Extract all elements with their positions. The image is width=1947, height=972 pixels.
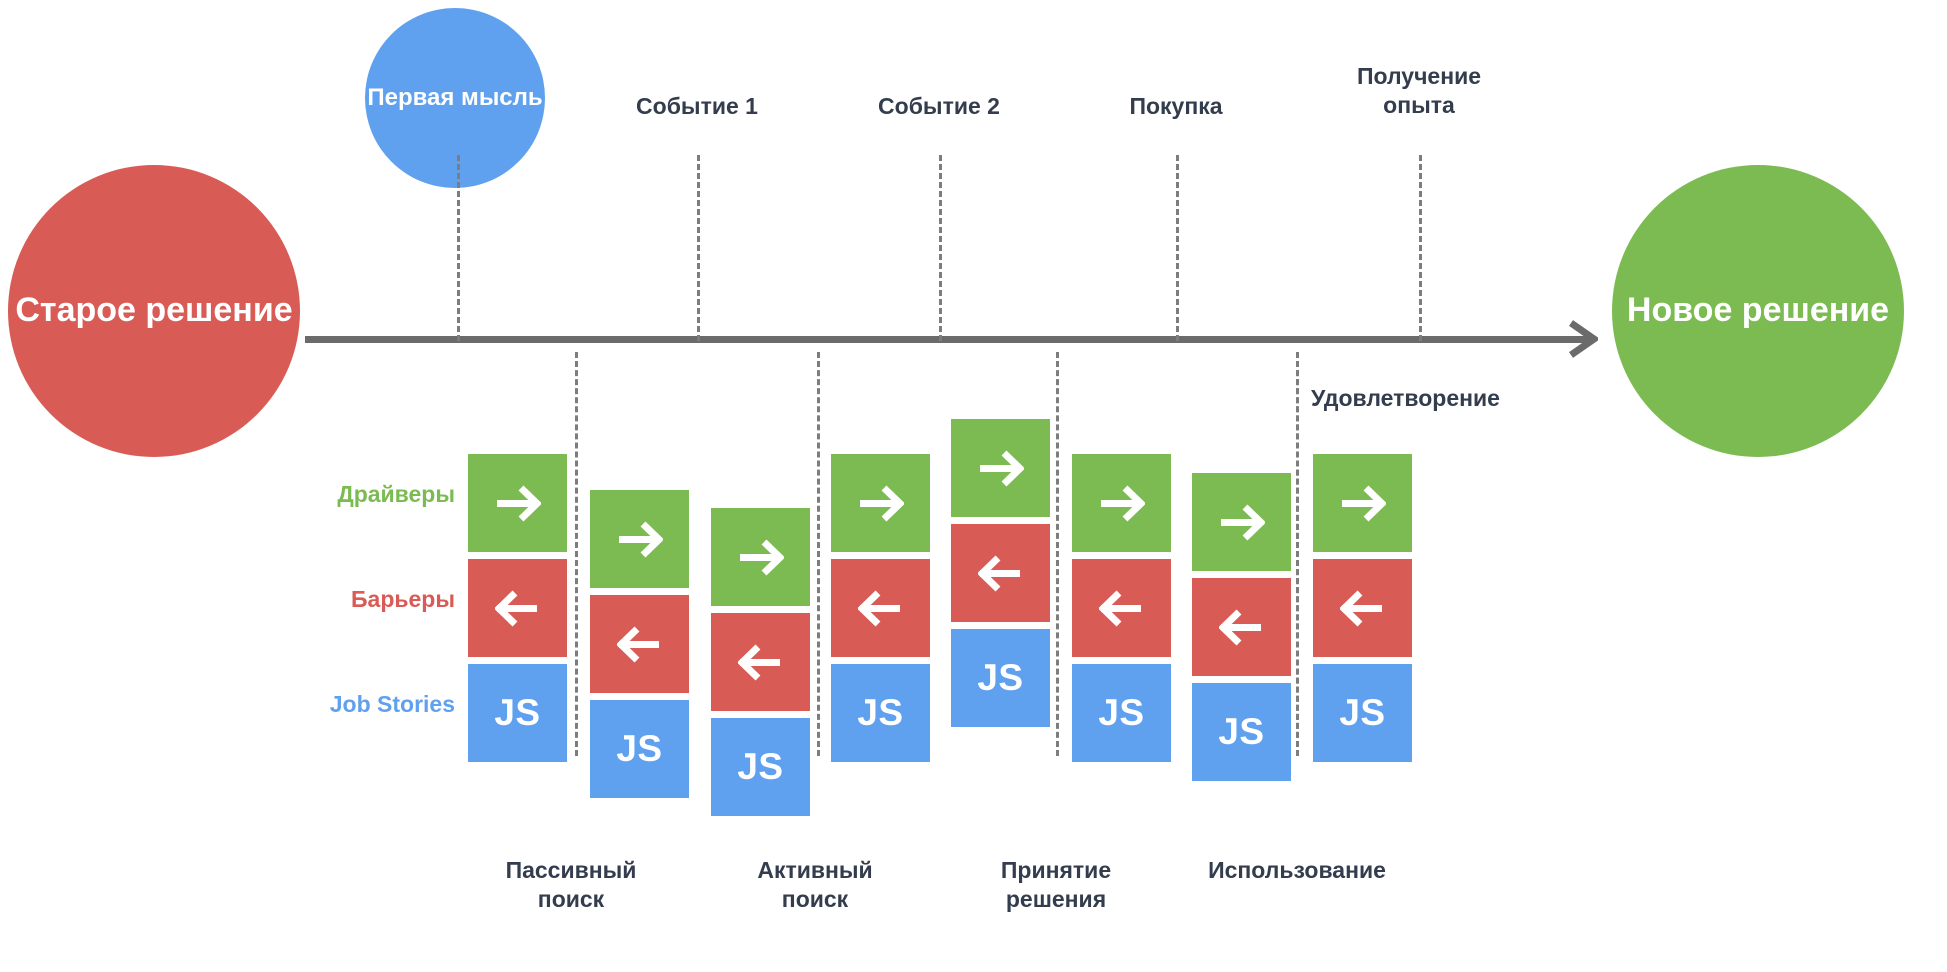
barrier-block-arrow-left-icon[interactable] [468,559,567,657]
bottom-stage-label-2: Принятие решения [1001,856,1111,915]
job-story-block[interactable]: JS [1192,683,1291,781]
legend-label-drivers: Драйверы [337,481,455,508]
tick-upper-1 [697,155,700,341]
tick-upper-3 [1176,155,1179,341]
top-stage-label-3: Покупка [1129,92,1222,121]
driver-block-arrow-right-icon[interactable] [468,454,567,552]
journey-column-0: JS [468,454,567,762]
journey-column-4: JS [951,419,1050,727]
legend-label-barriers: Барьеры [351,586,455,613]
job-story-label: JS [1339,692,1385,734]
satisfaction-label: Удовлетворение [1311,385,1500,412]
job-story-block[interactable]: JS [951,629,1050,727]
diagram-canvas: Старое решение Новое решение Первая мысл… [0,0,1947,972]
legend-label-job-stories: Job Stories [330,691,455,718]
barrier-block-arrow-left-icon[interactable] [831,559,930,657]
job-story-label: JS [857,692,903,734]
tick-upper-2 [939,155,942,341]
driver-block-arrow-right-icon[interactable] [831,454,930,552]
driver-block-arrow-right-icon[interactable] [1072,454,1171,552]
timeline-arrow-icon [1568,320,1598,358]
barrier-block-arrow-left-icon[interactable] [711,613,810,711]
job-story-block[interactable]: JS [1313,664,1412,762]
job-story-block[interactable]: JS [831,664,930,762]
job-story-label: JS [1218,711,1264,753]
job-story-label: JS [1098,692,1144,734]
journey-column-5: JS [1072,454,1171,762]
job-story-block[interactable]: JS [711,718,810,816]
bottom-stage-label-0: Пассивный поиск [506,856,637,915]
top-stage-label-1: Событие 1 [636,92,758,121]
bottom-stage-label-1: Активный поиск [757,856,872,915]
journey-column-7: JS [1313,454,1412,762]
timeline-axis [305,336,1593,343]
barrier-block-arrow-left-icon[interactable] [1192,578,1291,676]
tick-lower-1 [817,352,820,756]
driver-block-arrow-right-icon[interactable] [711,508,810,606]
barrier-block-arrow-left-icon[interactable] [1313,559,1412,657]
journey-column-1: JS [590,490,689,798]
barrier-block-arrow-left-icon[interactable] [951,524,1050,622]
barrier-block-arrow-left-icon[interactable] [590,595,689,693]
driver-block-arrow-right-icon[interactable] [590,490,689,588]
job-story-label: JS [494,692,540,734]
job-story-block[interactable]: JS [590,700,689,798]
driver-block-arrow-right-icon[interactable] [1192,473,1291,571]
job-story-label: JS [616,728,662,770]
job-story-block[interactable]: JS [1072,664,1171,762]
job-story-label: JS [737,746,783,788]
new-solution-circle: Новое решение [1612,165,1904,457]
job-story-label: JS [977,657,1023,699]
journey-column-6: JS [1192,473,1291,781]
tick-upper-4 [1419,155,1422,341]
driver-block-arrow-right-icon[interactable] [1313,454,1412,552]
tick-lower-satisfaction [1296,352,1299,756]
journey-column-2: JS [711,508,810,816]
first-thought-circle: Первая мысль [365,8,545,188]
job-story-block[interactable]: JS [468,664,567,762]
driver-block-arrow-right-icon[interactable] [951,419,1050,517]
top-stage-label-4: Получение опыта [1357,62,1481,120]
bottom-stage-label-3: Использование [1208,856,1386,885]
barrier-block-arrow-left-icon[interactable] [1072,559,1171,657]
tick-lower-0 [575,352,578,756]
journey-column-3: JS [831,454,930,762]
tick-lower-2 [1056,352,1059,756]
top-stage-label-2: Событие 2 [878,92,1000,121]
old-solution-circle: Старое решение [8,165,300,457]
tick-upper-0 [457,155,460,341]
